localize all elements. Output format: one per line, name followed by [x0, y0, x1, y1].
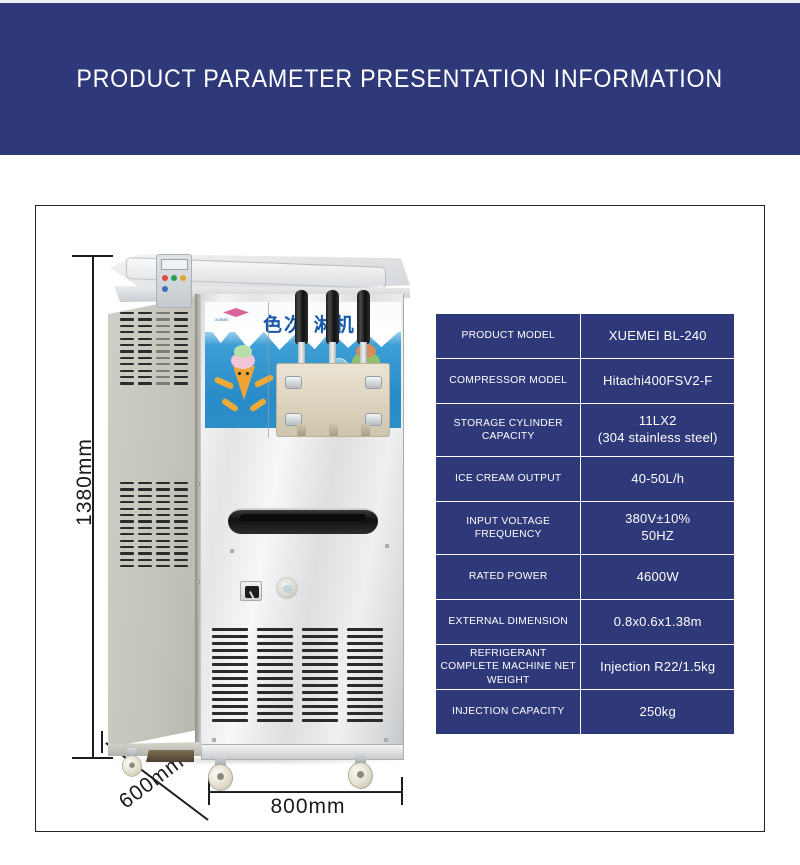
vent-slot	[120, 325, 134, 327]
vent-slot	[138, 514, 152, 516]
vent-slot	[156, 514, 170, 516]
spec-key-cell: COMPRESSOR MODEL	[436, 359, 580, 403]
vent-slot	[156, 312, 170, 314]
vent-slot	[212, 698, 248, 701]
vent-slot	[120, 338, 134, 340]
dispense-handle-3[interactable]	[357, 290, 370, 344]
dispenser-nozzle-2	[329, 424, 338, 436]
spec-value-cell: Hitachi400FSV2-F	[581, 359, 734, 403]
vent-slot	[302, 705, 338, 708]
vent-slot	[174, 482, 188, 484]
vent-slot	[347, 628, 383, 631]
vent-slot	[302, 677, 338, 680]
vent-slot	[212, 712, 248, 715]
vent-slot	[120, 350, 134, 352]
vent-slot	[212, 670, 248, 673]
vent-slot	[120, 482, 134, 484]
vent-slot	[174, 508, 188, 510]
screw-plinth-right	[384, 738, 388, 742]
vent-slot	[257, 649, 293, 652]
vent-slot	[156, 488, 170, 490]
vent-slot	[257, 656, 293, 659]
vent-slot	[257, 628, 293, 631]
vent-slot	[302, 642, 338, 645]
vent-slot	[174, 350, 188, 352]
vent-slot	[174, 344, 188, 346]
vent-slot	[138, 370, 152, 372]
vent-slot	[257, 642, 293, 645]
vent-slot	[156, 382, 170, 384]
vent-slot	[347, 642, 383, 645]
table-row: INPUT VOLTAGE FREQUENCY380V±10%50HZ	[436, 502, 734, 554]
vent-slot	[120, 540, 134, 542]
vent-slot	[174, 357, 188, 359]
spec-value-cell: XUEMEI BL-240	[581, 314, 734, 358]
console-button-grey[interactable]	[171, 286, 177, 292]
screw-right-upper	[385, 544, 389, 548]
vent-slot	[347, 635, 383, 638]
vent-slot	[138, 338, 152, 340]
vent-slot	[347, 719, 383, 722]
vent-slot	[138, 344, 152, 346]
mascot-arm-right	[254, 374, 275, 388]
machine-kick-plate	[146, 750, 194, 762]
console-button-amber[interactable]	[180, 275, 186, 281]
vent-slot	[347, 649, 383, 652]
spec-key-cell: PRODUCT MODEL	[436, 314, 580, 358]
caster-hub-left	[217, 773, 224, 780]
vent-slot	[302, 719, 338, 722]
vent-slot	[302, 712, 338, 715]
screw-side-mid	[196, 482, 200, 486]
dispense-rod-2	[329, 342, 336, 364]
vent-slot	[138, 508, 152, 510]
vent-slot	[257, 712, 293, 715]
vent-slot	[156, 318, 170, 320]
vent-slot	[138, 527, 152, 529]
power-switch-indicator	[249, 591, 255, 600]
vent-slot	[212, 684, 248, 687]
dispenser-knob-top-left[interactable]	[285, 376, 302, 389]
control-console[interactable]	[156, 254, 192, 308]
vent-slot	[174, 514, 188, 516]
specification-table: PRODUCT MODELXUEMEI BL-240COMPRESSOR MOD…	[435, 313, 735, 735]
vent-slot	[257, 670, 293, 673]
drip-tray-slot	[240, 514, 366, 521]
vent-slot	[120, 382, 134, 384]
vent-slot	[174, 527, 188, 529]
vent-slot	[138, 357, 152, 359]
vent-slot	[174, 520, 188, 522]
spec-key-cell: EXTERNAL DIMENSION	[436, 600, 580, 644]
vent-slot	[257, 698, 293, 701]
mascot-face	[237, 372, 251, 380]
vent-slot	[156, 370, 170, 372]
spec-value-cell: 250kg	[581, 690, 734, 734]
spec-value-cell: Injection R22/1.5kg	[581, 645, 734, 689]
table-row: STORAGE CYLINDER CAPACITY11LX2(304 stain…	[436, 404, 734, 456]
vent-slot	[156, 559, 170, 561]
drip-tray	[228, 508, 378, 534]
vent-slot	[120, 357, 134, 359]
vent-slot	[347, 663, 383, 666]
spec-key-cell: RATED POWER	[436, 555, 580, 599]
base-guide-front	[208, 791, 403, 792]
spec-key-cell: ICE CREAM OUTPUT	[436, 457, 580, 501]
vent-slot	[174, 488, 188, 490]
console-button-blue[interactable]	[162, 286, 168, 292]
table-row: REFRIGERANT COMPLETE MACHINE NET WEIGHTI…	[436, 645, 734, 689]
vent-slot	[347, 698, 383, 701]
vent-slot	[347, 670, 383, 673]
vent-slot	[120, 376, 134, 378]
vent-slot	[120, 546, 134, 548]
table-row: EXTERNAL DIMENSION0.8x0.6x1.38m	[436, 600, 734, 644]
vent-slot	[302, 649, 338, 652]
decal-brand-logo: XUEMEI	[215, 308, 259, 324]
vent-slot	[212, 656, 248, 659]
spec-key-cell: STORAGE CYLINDER CAPACITY	[436, 404, 580, 456]
table-row: PRODUCT MODELXUEMEI BL-240	[436, 314, 734, 358]
vent-slot	[156, 540, 170, 542]
decal-logo-mark-icon	[223, 308, 249, 317]
spec-value-cell: 380V±10%50HZ	[581, 502, 734, 554]
vent-slot	[138, 482, 152, 484]
pressure-gauge	[276, 577, 298, 599]
spec-key-cell: REFRIGERANT COMPLETE MACHINE NET WEIGHT	[436, 645, 580, 689]
vent-slot	[138, 312, 152, 314]
vent-slot	[156, 344, 170, 346]
decal-mascot-icon	[217, 344, 273, 420]
vent-slot	[156, 552, 170, 554]
vent-slot	[212, 719, 248, 722]
vent-slot	[156, 325, 170, 327]
vent-slot	[302, 670, 338, 673]
vent-slot	[138, 495, 152, 497]
power-switch-knob[interactable]	[245, 586, 259, 598]
width-dimension-label: 800mm	[218, 795, 398, 819]
caster-hub-rear	[129, 762, 135, 768]
vent-slot	[138, 559, 152, 561]
console-display	[161, 259, 188, 270]
dispenser-knob-top-right[interactable]	[365, 376, 382, 389]
console-button-green[interactable]	[171, 275, 177, 281]
mascot-eye-left	[238, 372, 241, 375]
vent-slot	[138, 350, 152, 352]
vent-slot	[174, 552, 188, 554]
vent-slot	[156, 350, 170, 352]
vent-slot	[174, 559, 188, 561]
dispense-rod-3	[360, 342, 367, 364]
vent-slot	[156, 527, 170, 529]
spec-value-cell: 0.8x0.6x1.38m	[581, 600, 734, 644]
decal-logo-subtext: XUEMEI	[215, 318, 228, 322]
machine-door-seam	[268, 302, 269, 438]
vent-slot	[138, 488, 152, 490]
mascot-scoop-upper	[234, 345, 252, 358]
vent-slot	[120, 514, 134, 516]
vent-slot	[347, 677, 383, 680]
vent-slot	[347, 712, 383, 715]
vent-slot	[156, 508, 170, 510]
vent-slot	[347, 684, 383, 687]
table-row: INJECTION CAPACITY250kg	[436, 690, 734, 734]
table-row: COMPRESSOR MODELHitachi400FSV2-F	[436, 359, 734, 403]
dispensing-block	[276, 363, 390, 437]
decal-chinese-text: 色次 淋机	[263, 310, 356, 337]
spec-key-cell: INPUT VOLTAGE FREQUENCY	[436, 502, 580, 554]
vent-slot	[212, 677, 248, 680]
machine-plinth	[201, 744, 404, 760]
vent-slot	[212, 642, 248, 645]
vent-slot	[212, 663, 248, 666]
vent-slot	[120, 559, 134, 561]
page-root: PRODUCT PARAMETER PRESENTATION INFORMATI…	[0, 0, 800, 865]
vent-slot	[257, 677, 293, 680]
page-title: PRODUCT PARAMETER PRESENTATION INFORMATI…	[77, 65, 724, 94]
vent-slot	[120, 318, 134, 320]
caster-hub-right	[357, 771, 364, 778]
vent-slot	[174, 318, 188, 320]
vent-slot	[156, 338, 170, 340]
vent-slot	[138, 318, 152, 320]
vent-slot	[212, 635, 248, 638]
console-button-grey-2[interactable]	[180, 286, 186, 292]
vent-slot	[174, 338, 188, 340]
screw-side-lower	[196, 580, 200, 584]
vent-slot	[302, 691, 338, 694]
vent-slot	[257, 684, 293, 687]
spec-value-cell: 4600W	[581, 555, 734, 599]
vent-slot	[156, 482, 170, 484]
vent-slot	[120, 508, 134, 510]
screw-plinth-left	[212, 738, 216, 742]
vent-slot	[302, 663, 338, 666]
dispenser-nozzle-3	[361, 424, 370, 436]
vent-slot	[347, 656, 383, 659]
vent-slot	[156, 520, 170, 522]
vent-slot	[212, 705, 248, 708]
vent-slot	[212, 649, 248, 652]
vent-slot	[174, 546, 188, 548]
header-banner: PRODUCT PARAMETER PRESENTATION INFORMATI…	[0, 3, 800, 155]
vent-slot	[257, 705, 293, 708]
vent-slot	[302, 684, 338, 687]
vent-slot	[138, 376, 152, 378]
vent-slot	[302, 628, 338, 631]
vent-slot	[120, 488, 134, 490]
vent-slot	[257, 663, 293, 666]
vent-slot	[138, 546, 152, 548]
vent-slot	[257, 635, 293, 638]
vent-slot	[138, 552, 152, 554]
vent-slot	[120, 312, 134, 314]
vent-slot	[156, 376, 170, 378]
vent-slot	[174, 376, 188, 378]
vent-slot	[347, 691, 383, 694]
gauge-face	[283, 585, 293, 593]
dispense-rod-1	[298, 342, 305, 364]
vent-slot	[120, 520, 134, 522]
vent-slot	[347, 705, 383, 708]
dispense-handle-2[interactable]	[326, 290, 339, 344]
vent-slot	[302, 635, 338, 638]
vent-slot	[120, 370, 134, 372]
vent-slot	[138, 540, 152, 542]
vent-slot	[174, 312, 188, 314]
console-button-red[interactable]	[162, 275, 168, 281]
vent-slot	[138, 520, 152, 522]
table-row: ICE CREAM OUTPUT40-50L/h	[436, 457, 734, 501]
vent-slot	[174, 540, 188, 542]
vent-slot	[212, 628, 248, 631]
vent-slot	[212, 691, 248, 694]
vent-slot	[174, 495, 188, 497]
dispenser-nozzle-1	[297, 424, 306, 436]
spec-key-cell: INJECTION CAPACITY	[436, 690, 580, 734]
vent-slot	[156, 495, 170, 497]
vent-slot	[120, 527, 134, 529]
power-switch[interactable]	[240, 581, 262, 601]
vent-slot	[257, 719, 293, 722]
vent-slot	[257, 691, 293, 694]
dispense-handle-1[interactable]	[295, 290, 308, 344]
vent-slot	[120, 344, 134, 346]
product-image: XUEMEI 色次 淋机 优质不锈钢 精工制造	[100, 250, 420, 770]
height-dimension-label: 1380mm	[73, 427, 97, 537]
spec-value-cell: 40-50L/h	[581, 457, 734, 501]
spec-value-cell: 11LX2(304 stainless steel)	[581, 404, 734, 456]
vent-slot	[156, 546, 170, 548]
vent-slot	[138, 382, 152, 384]
vent-slot	[120, 495, 134, 497]
vent-slot	[302, 656, 338, 659]
table-row: RATED POWER4600W	[436, 555, 734, 599]
vent-slot	[156, 357, 170, 359]
vent-slot	[138, 325, 152, 327]
vent-slot	[174, 370, 188, 372]
vent-slot	[302, 698, 338, 701]
vent-slot	[174, 325, 188, 327]
vent-slot	[120, 552, 134, 554]
vent-slot	[174, 382, 188, 384]
screw-left-upper	[230, 549, 234, 553]
mascot-arm-left	[214, 376, 235, 390]
mascot-eye-right	[246, 372, 249, 375]
